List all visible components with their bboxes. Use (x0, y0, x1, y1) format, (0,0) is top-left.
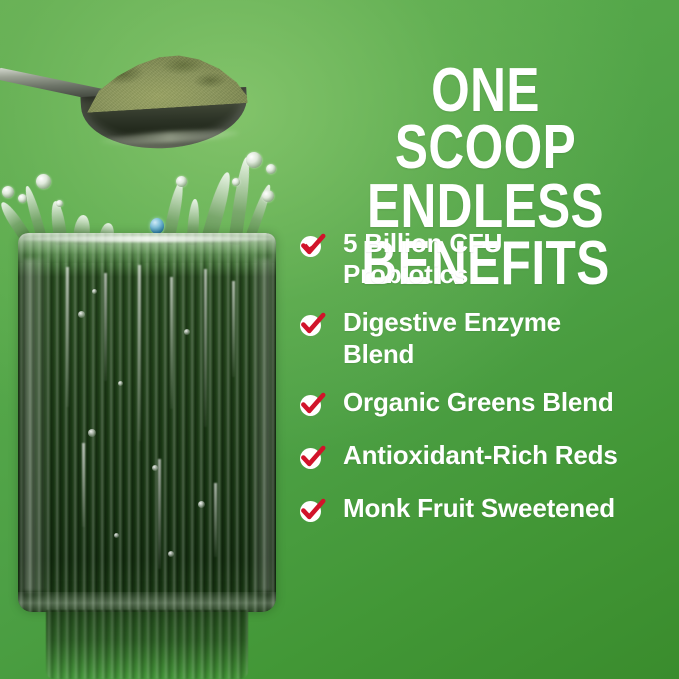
glass-left-highlight (24, 259, 48, 592)
text-panel: ONE SCOOP ENDLESS BENEFITS 5 Billion CFU… (296, 0, 679, 679)
list-item: Organic Greens Blend (300, 387, 679, 423)
list-item: Antioxidant-Rich Reds (300, 440, 679, 476)
spoon-with-powder (0, 48, 246, 154)
list-item: Monk Fruit Sweetened (300, 493, 679, 529)
list-item-label: 5 Billion CFU Probiotics (343, 228, 502, 290)
drink-glass (18, 233, 276, 612)
headline-line-1: ONE SCOOP (334, 62, 637, 176)
liquid-splash (0, 150, 300, 245)
list-item-label: Antioxidant-Rich Reds (343, 440, 618, 471)
benefits-list: 5 Billion CFU Probiotics Digestive Enzym… (300, 228, 679, 546)
list-item-label: Digestive Enzyme Blend (343, 307, 561, 369)
check-circle-icon (300, 393, 324, 417)
check-circle-icon (300, 234, 324, 258)
list-item-label: Organic Greens Blend (343, 387, 614, 418)
green-powder-heap (80, 47, 247, 113)
check-circle-icon (300, 313, 324, 337)
glass-ribs (18, 233, 276, 612)
product-benefits-poster: ONE SCOOP ENDLESS BENEFITS 5 Billion CFU… (0, 0, 679, 679)
blue-droplet (150, 218, 164, 234)
glass-right-highlight (251, 259, 271, 592)
check-circle-icon (300, 446, 324, 470)
glass-rim (18, 233, 276, 263)
glass-reflection (46, 610, 248, 679)
check-circle-icon (300, 499, 324, 523)
list-item: 5 Billion CFU Probiotics (300, 228, 679, 290)
product-photo (0, 0, 300, 679)
list-item-label: Monk Fruit Sweetened (343, 493, 615, 524)
list-item: Digestive Enzyme Blend (300, 307, 679, 369)
glass-base (18, 592, 276, 612)
